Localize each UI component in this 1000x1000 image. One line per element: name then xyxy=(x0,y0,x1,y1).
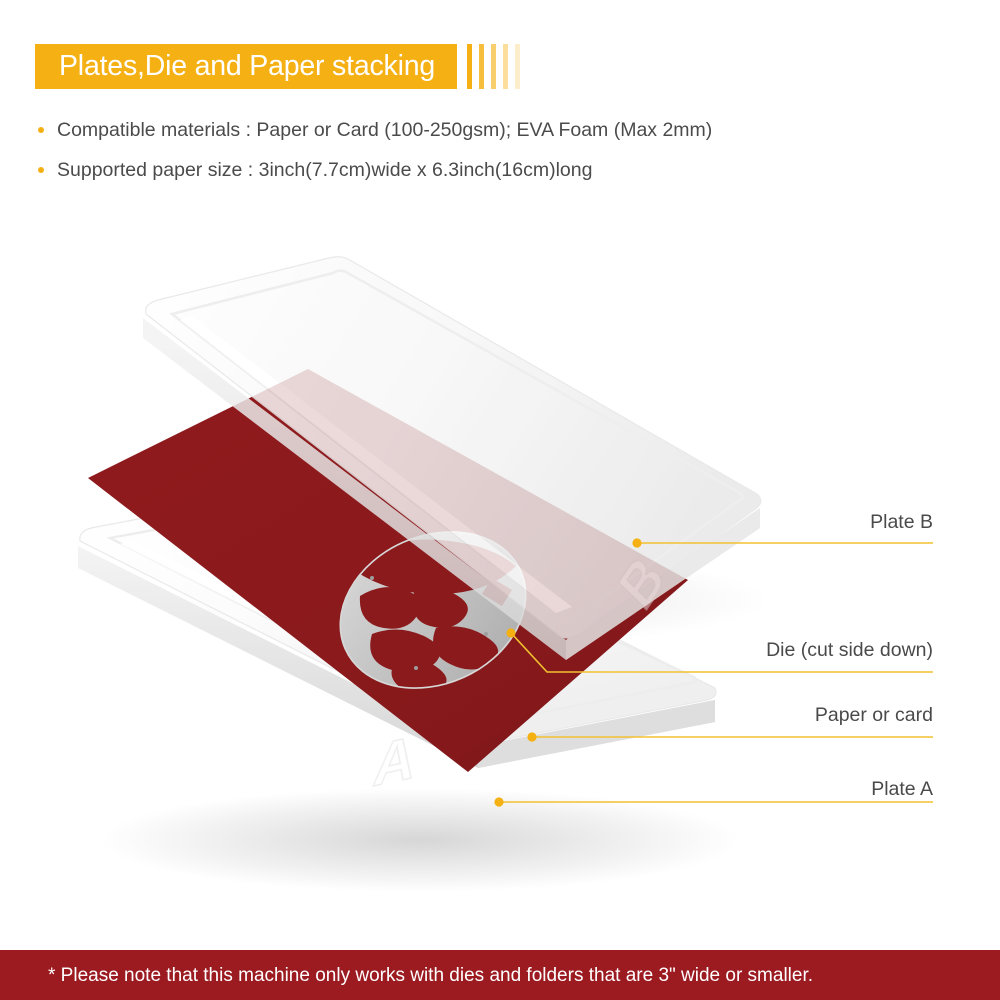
callout-plate-b: Plate B xyxy=(513,513,933,542)
callout-label-group: Plate B Die (cut side down) Paper or car… xyxy=(0,0,1000,1000)
callout-label-plate-a: Plate A xyxy=(513,780,933,809)
callout-label-die: Die (cut side down) xyxy=(513,641,933,670)
callout-label-paper: Paper or card xyxy=(513,706,933,735)
callout-plate-a: Plate A xyxy=(513,780,933,809)
footer-note-text: * Please note that this machine only wor… xyxy=(0,966,813,985)
footer-note-bar: * Please note that this machine only wor… xyxy=(0,950,1000,1000)
callout-die: Die (cut side down) xyxy=(513,641,933,670)
callout-paper: Paper or card xyxy=(513,706,933,735)
callout-label-plate-b: Plate B xyxy=(513,513,933,542)
